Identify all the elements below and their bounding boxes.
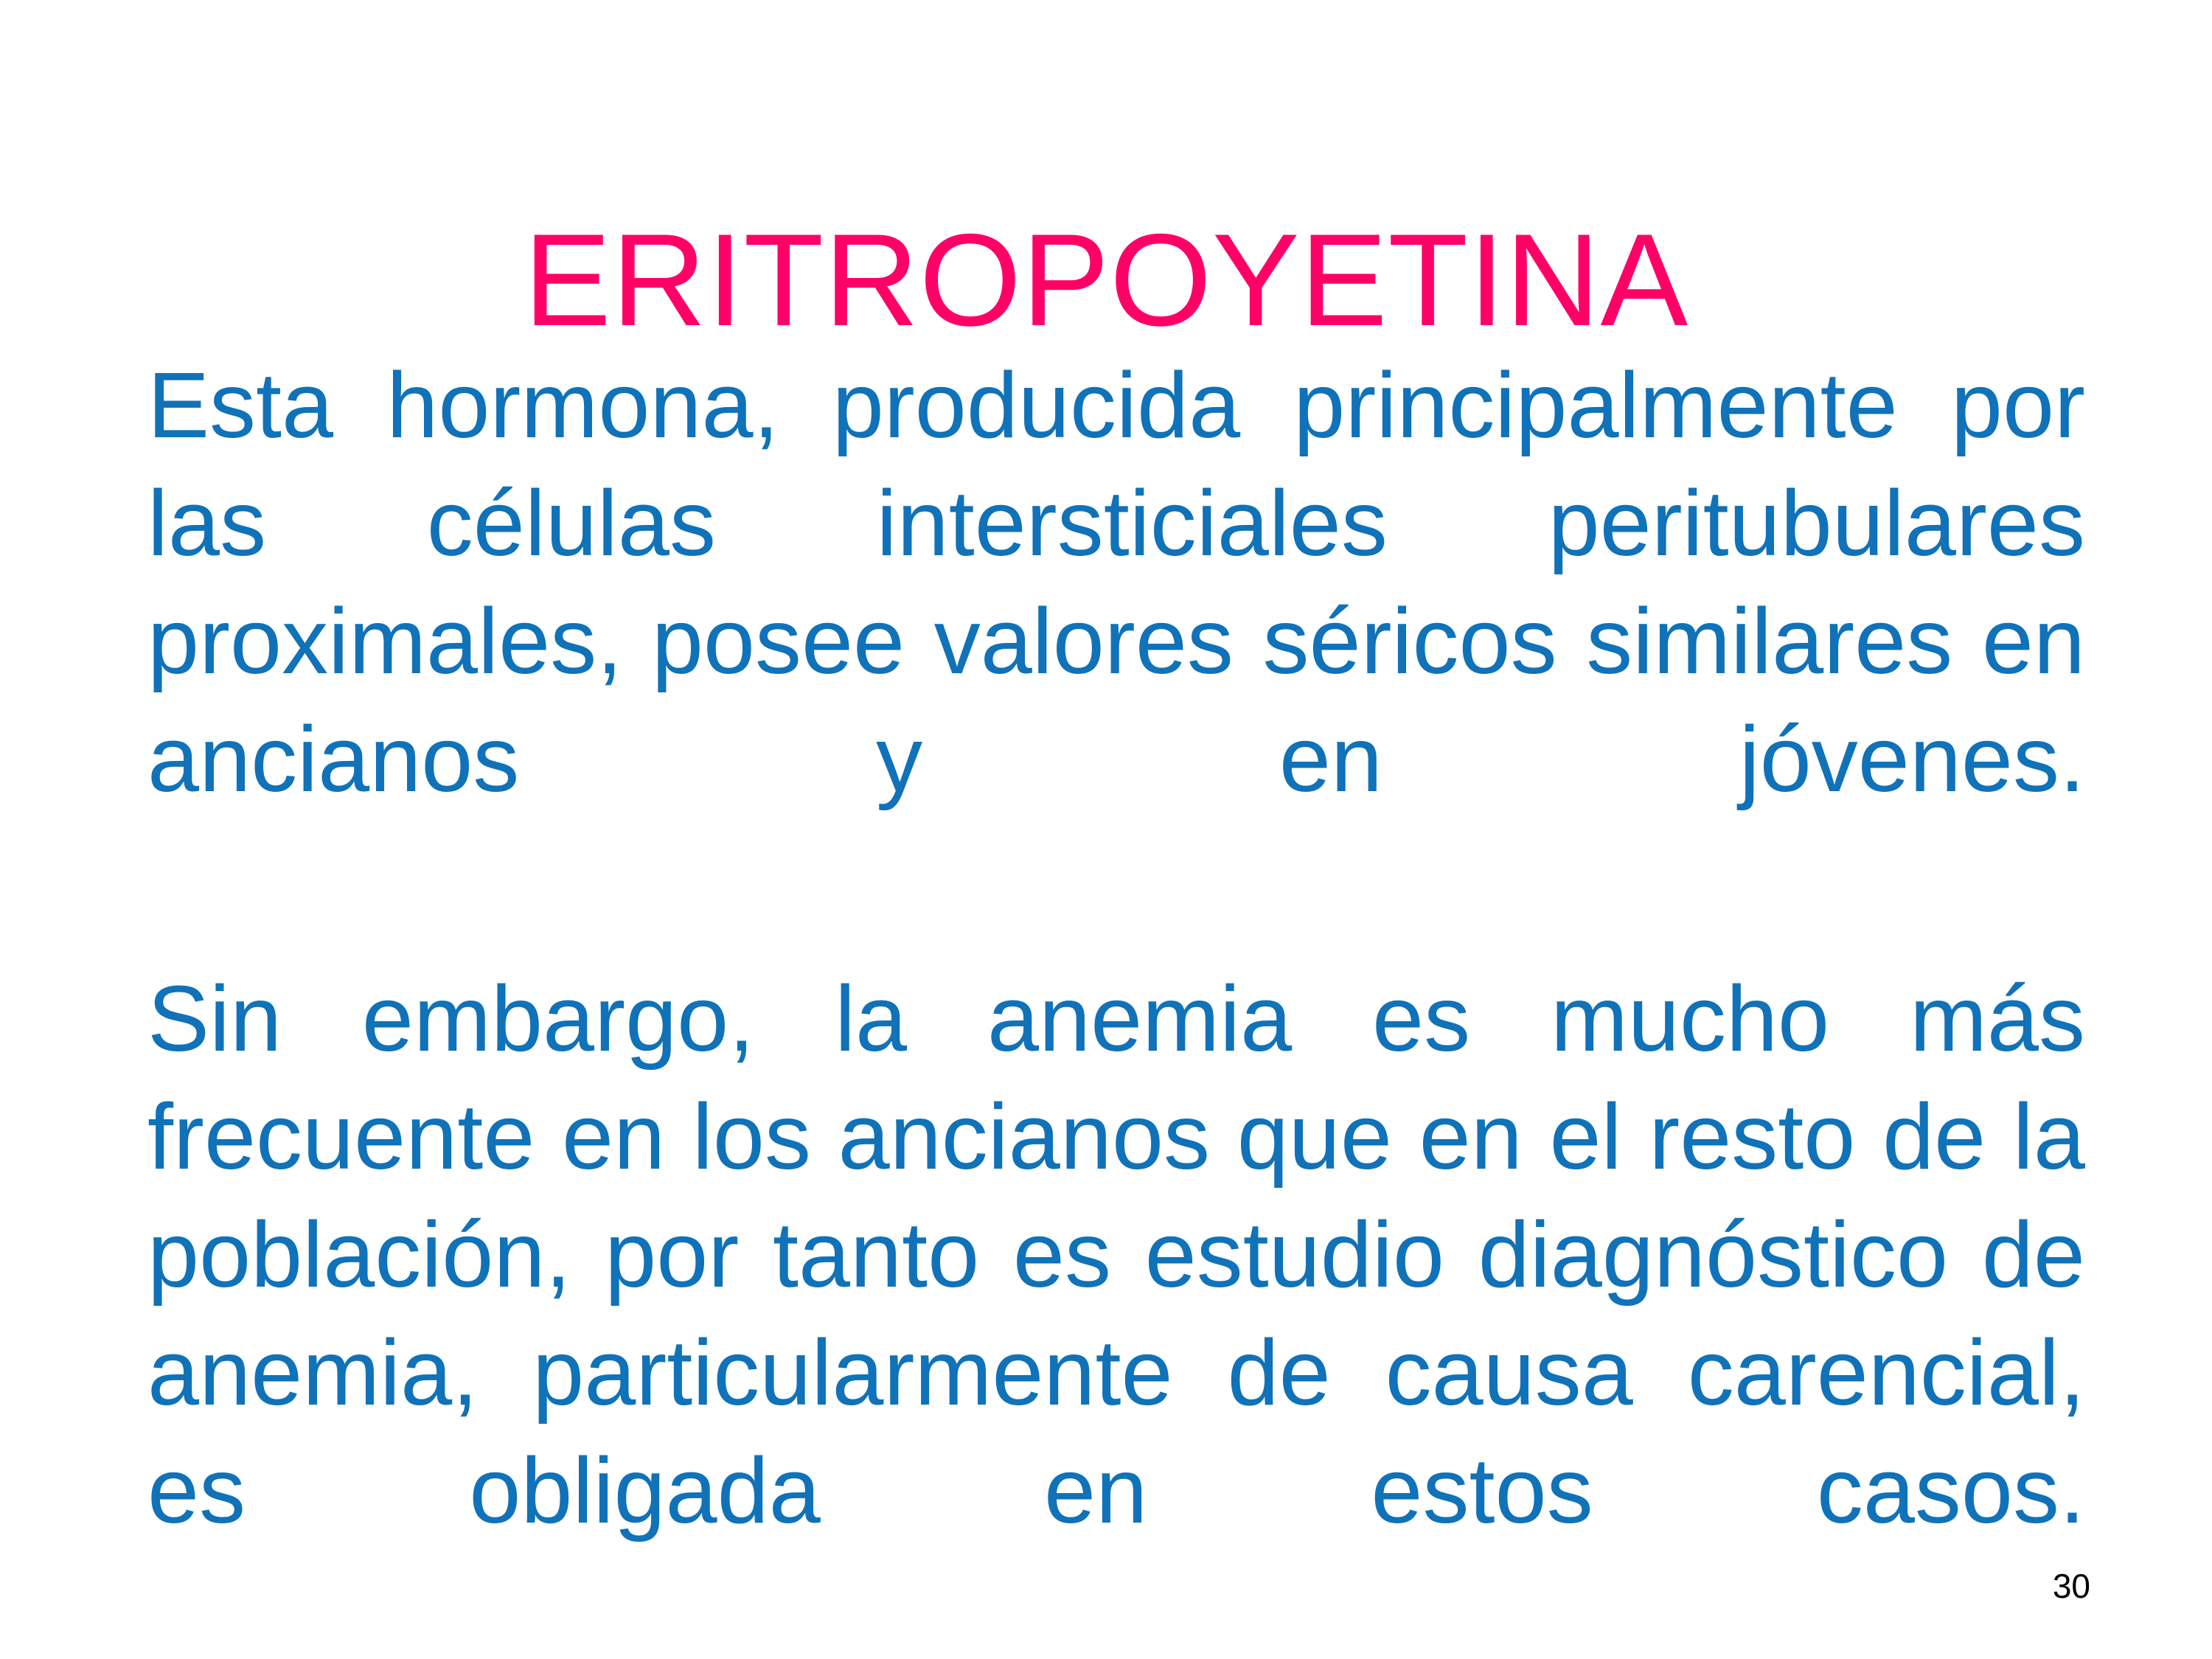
- presentation-slide: ERITROPOYETINA Esta hormona, producida p…: [0, 0, 2212, 1659]
- body-paragraph-2: Sin embargo, la anemia es mucho más frec…: [147, 960, 2085, 1659]
- page-number: 30: [2053, 1569, 2090, 1603]
- body-paragraph-1: Esta hormona, producida principalmente p…: [147, 347, 2085, 936]
- page-title: ERITROPOYETINA: [0, 215, 2212, 346]
- slide-body-text: Esta hormona, producida principalmente p…: [147, 347, 2085, 1659]
